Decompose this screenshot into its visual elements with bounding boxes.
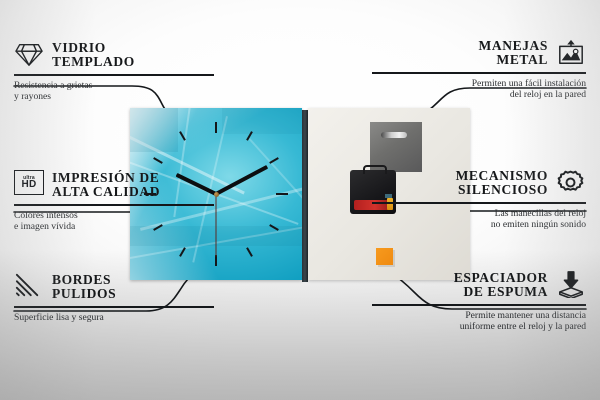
feature-title: MECANISMO SILENCIOSO — [456, 169, 548, 198]
diamond-icon — [14, 40, 44, 70]
feature-title: VIDRIO TEMPLADO — [52, 41, 135, 70]
feature-subtitle: Permite mantener una distancia uniforme … — [372, 310, 586, 333]
feature-subtitle: Colores intensos e imagen vívida — [14, 210, 228, 233]
picture-frame-hanger-icon — [556, 38, 586, 68]
feature-vidrio-templado: VIDRIO TEMPLADO Resistencia a grietas y … — [14, 40, 228, 103]
title-rule — [372, 202, 586, 204]
feature-subtitle: Superficie lisa y segura — [14, 312, 228, 324]
title-rule — [372, 72, 586, 74]
title-rule — [14, 204, 214, 206]
ultra-hd-icon: ultra HD — [14, 170, 44, 200]
feature-subtitle: Resistencia a grietas y rayones — [14, 80, 228, 103]
hanger-slot — [381, 132, 407, 138]
title-rule — [14, 74, 214, 76]
feature-subtitle: Permiten una fácil instalación del reloj… — [372, 78, 586, 101]
infographic-canvas: VIDRIO TEMPLADO Resistencia a grietas y … — [0, 0, 600, 400]
foam-spacer — [376, 248, 393, 265]
feature-title: BORDES PULIDOS — [52, 273, 116, 302]
feature-bordes-pulidos: BORDES PULIDOS Superficie lisa y segura — [14, 272, 228, 323]
feature-mecanismo-silencioso: MECANISMO SILENCIOSO Las manecillas del … — [372, 168, 586, 231]
polished-edge-icon — [14, 272, 44, 302]
title-rule — [14, 306, 214, 308]
feature-subtitle: Las manecillas del reloj no emiten ningú… — [372, 208, 586, 231]
title-rule — [372, 304, 586, 306]
feature-manejas-metal: MANEJAS METAL Permiten una fácil instala… — [372, 38, 586, 101]
feature-title: MANEJAS METAL — [479, 39, 548, 68]
feature-espaciador-espuma: ESPACIADOR DE ESPUMA Permite mantener un… — [372, 270, 586, 333]
feature-impresion-alta-calidad: ultra HD IMPRESIÓN DE ALTA CALIDAD Color… — [14, 170, 228, 233]
feature-title: ESPACIADOR DE ESPUMA — [454, 271, 548, 300]
foam-spacer-icon — [556, 270, 586, 300]
feature-title: IMPRESIÓN DE ALTA CALIDAD — [52, 171, 160, 200]
gear-icon — [556, 168, 586, 198]
